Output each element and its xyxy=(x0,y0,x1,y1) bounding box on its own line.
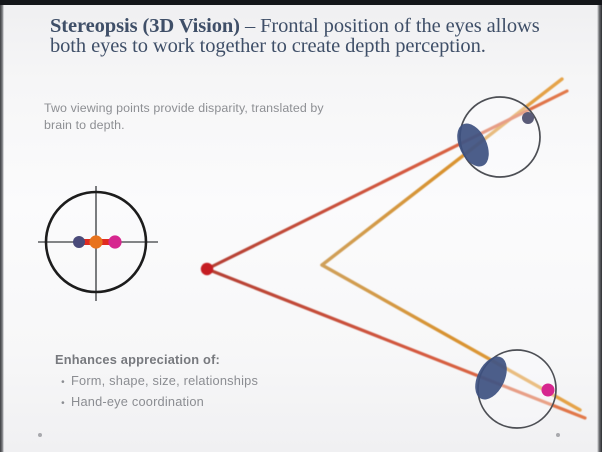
right-eye-top xyxy=(451,97,540,177)
list-item: • Form, shape, size, relationships xyxy=(55,371,385,392)
list-item: • Hand-eye coordination xyxy=(55,392,385,413)
enhances-heading: Enhances appreciation of: xyxy=(55,352,385,367)
dot-navy xyxy=(73,236,85,248)
corner-dot-bottom-right xyxy=(556,433,560,437)
retina-point-bottom xyxy=(542,384,555,397)
enhances-block: Enhances appreciation of: • Form, shape,… xyxy=(55,352,385,413)
left-eye-bottom xyxy=(469,350,556,428)
page-title: Stereopsis (3D Vision) – Frontal positio… xyxy=(50,17,570,56)
subtitle-text: Two viewing points provide disparity, tr… xyxy=(44,100,344,134)
list-item-label: Hand-eye coordination xyxy=(71,392,204,411)
list-item-label: Form, shape, size, relationships xyxy=(71,371,258,390)
corner-dot-bottom-left xyxy=(38,433,42,437)
slide-canvas: Stereopsis (3D Vision) – Frontal positio… xyxy=(0,0,602,452)
dot-magenta xyxy=(108,235,121,248)
dot-orange xyxy=(89,235,102,248)
visual-target xyxy=(38,186,158,301)
retina-point-top xyxy=(522,112,534,124)
bullet-icon: • xyxy=(55,373,71,392)
bullet-icon: • xyxy=(55,394,71,413)
red-fixation-point xyxy=(201,263,213,275)
